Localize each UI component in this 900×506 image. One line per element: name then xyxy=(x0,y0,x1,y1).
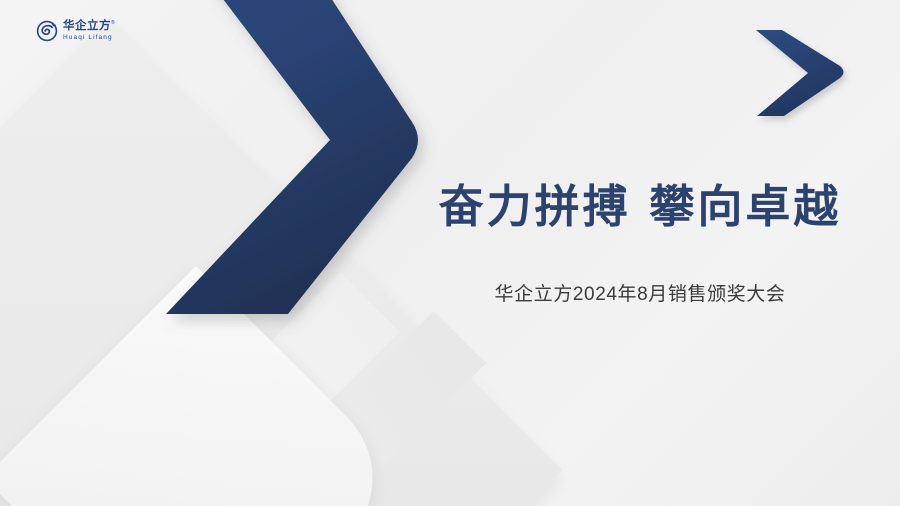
company-logo[interactable]: 华企立方® Huaqi Lifang xyxy=(36,20,115,42)
white-band-lower xyxy=(0,272,400,506)
grey-band-lower xyxy=(24,311,486,506)
logo-name-cn: 华企立方® xyxy=(63,21,115,33)
navy-chevron-large-icon xyxy=(0,0,430,340)
rounded-white-plate-decoration xyxy=(0,266,408,506)
logo-wordmark: 华企立方® Huaqi Lifang xyxy=(63,21,115,42)
page-title: 奋力拼搏 攀向卓越 xyxy=(410,178,870,236)
swirl-mark-icon xyxy=(36,20,58,42)
logo-trademark: ® xyxy=(111,20,115,26)
logo-name-en: Huaqi Lifang xyxy=(63,35,115,42)
pale-band-outer-lower xyxy=(0,224,340,506)
title-slide: 华企立方® Huaqi Lifang 奋力拼搏 攀向卓越 华企立方2024年8月… xyxy=(0,0,900,506)
navy-chevron-small-icon xyxy=(752,26,852,122)
title-block: 奋力拼搏 攀向卓越 华企立方2024年8月销售颁奖大会 xyxy=(410,178,870,306)
page-subtitle: 华企立方2024年8月销售颁奖大会 xyxy=(410,279,870,306)
